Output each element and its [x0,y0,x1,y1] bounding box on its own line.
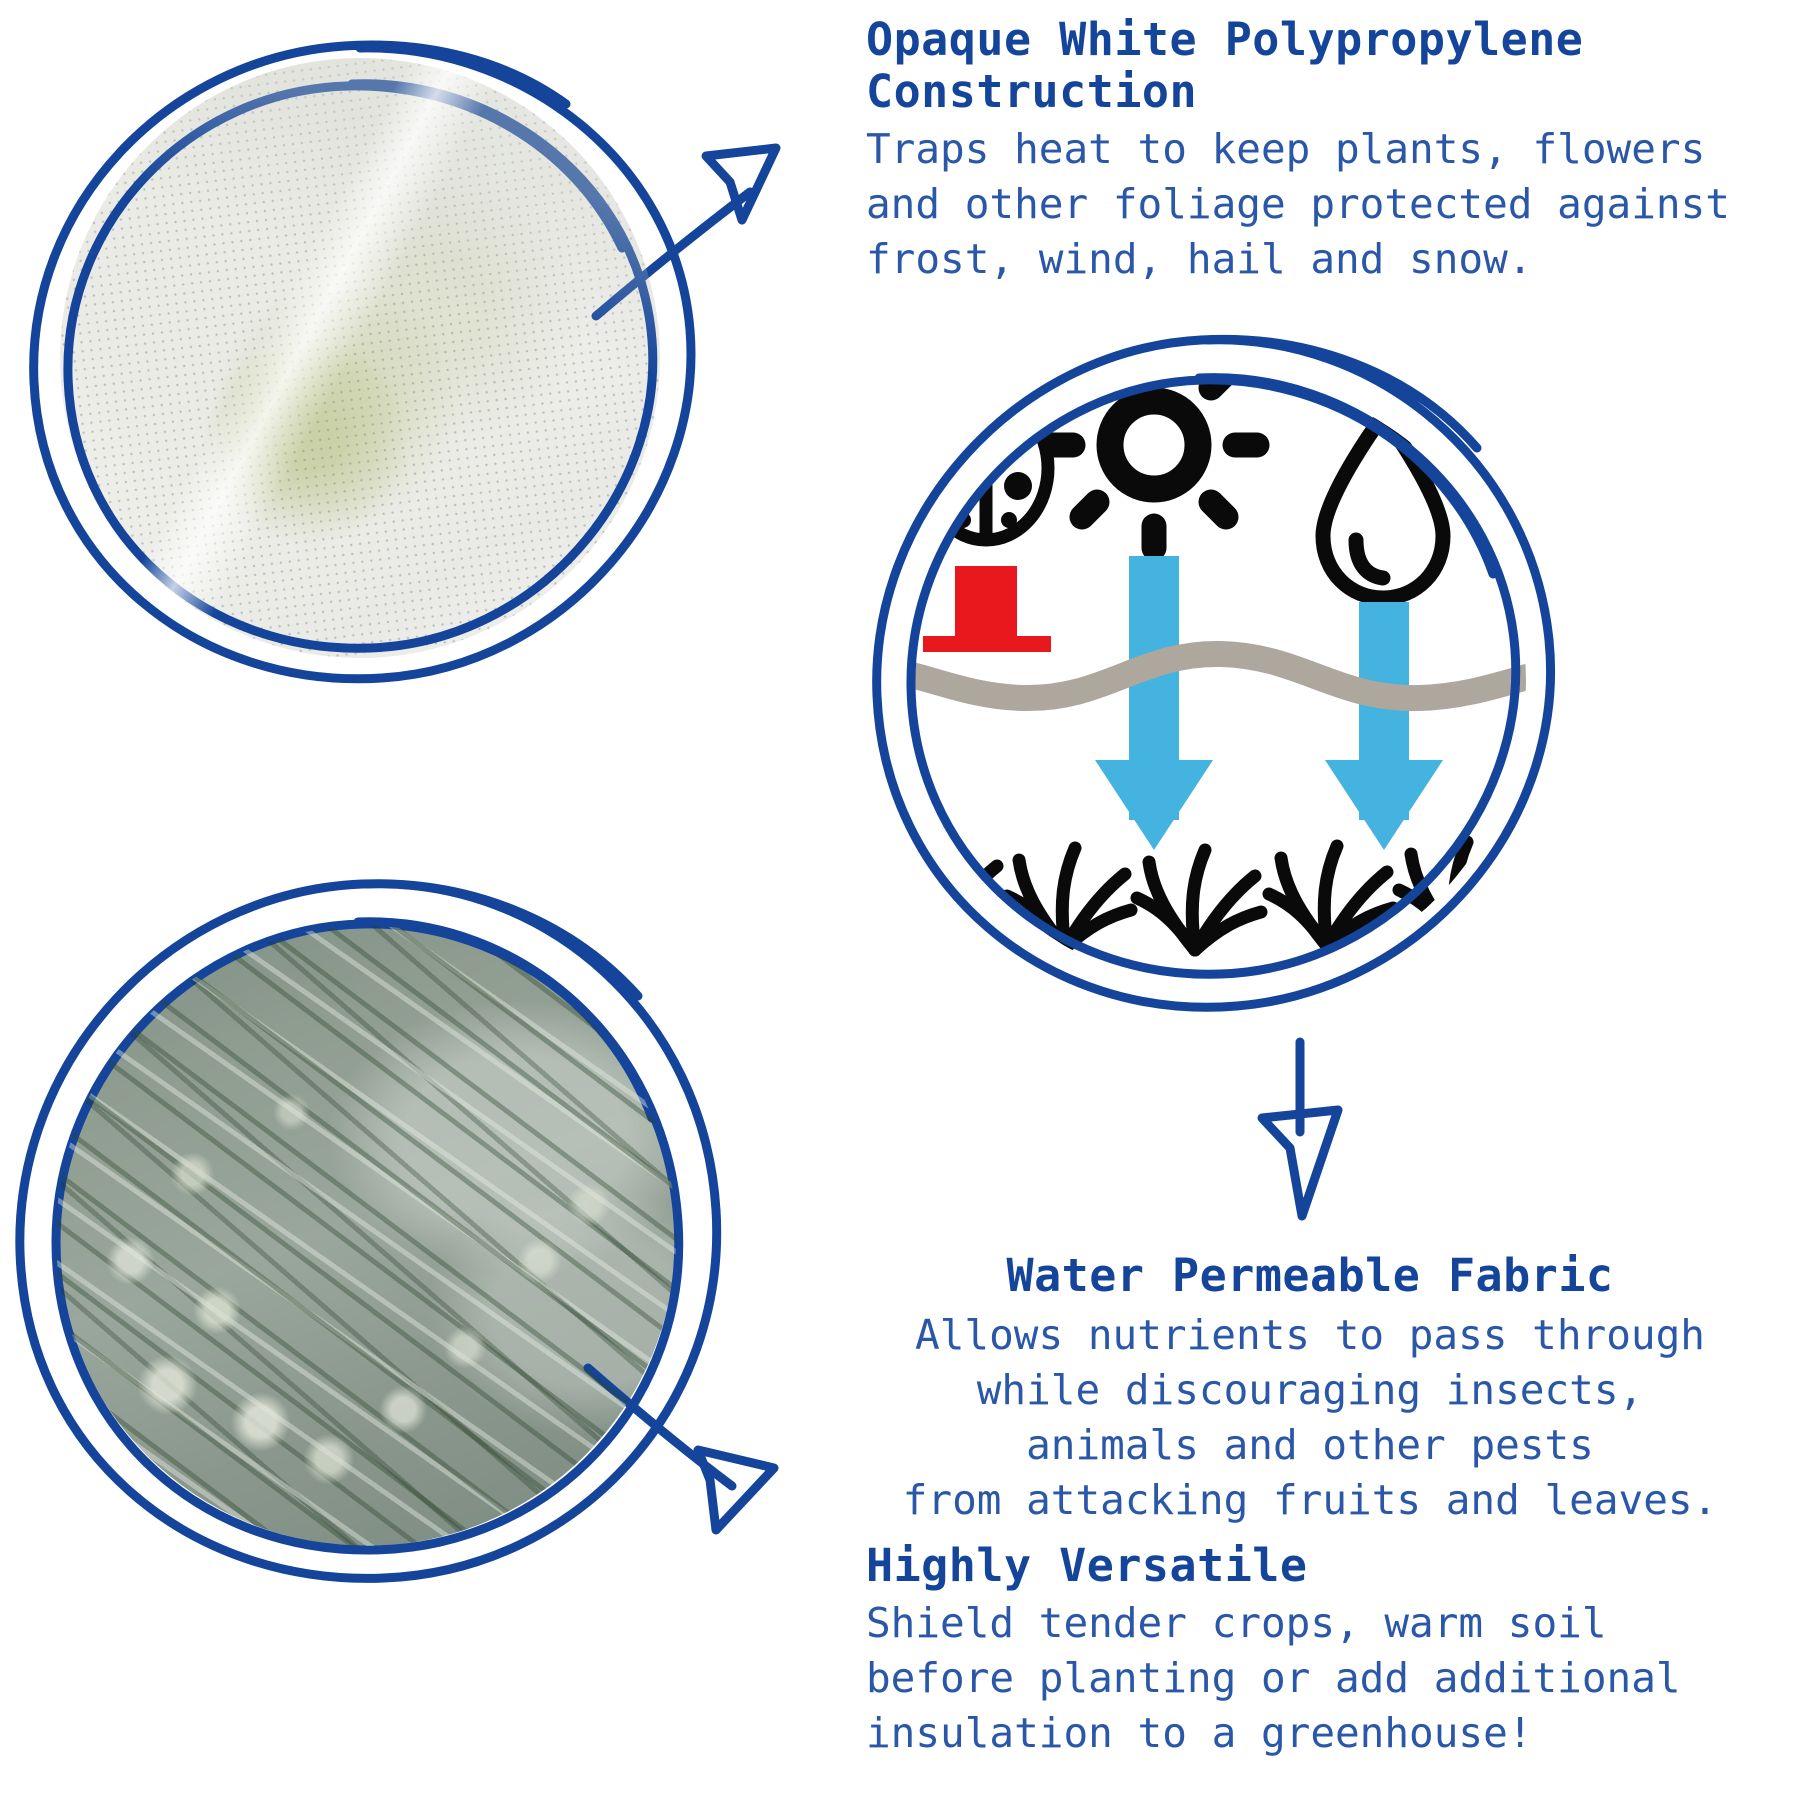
diagram-circle-outer [877,339,1551,1007]
water-body: Allows nutrients to pass through while d… [840,1308,1780,1528]
diagram-circle [855,320,1585,1050]
versatile-body-line-1: Shield tender crops, warm soil [866,1596,1786,1651]
water-body-line-2: while discouraging insects, [840,1363,1780,1418]
arrow-head-icon [706,148,776,220]
opaque-heading-line-2: Construction [866,66,1786,118]
fleece-photo-circle [0,0,760,760]
diagram-sketch-circles [855,320,1585,1050]
water-body-line-4: from attacking fruits and leaves. [840,1473,1780,1528]
water-heading-line-1: Water Permeable Fabric [840,1250,1780,1302]
water-heading: Water Permeable Fabric [840,1250,1780,1302]
opaque-heading: Opaque White Polypropylene Construction [866,14,1786,118]
infographic-stage: Opaque White Polypropylene Construction … [0,0,1800,1800]
opaque-body: Traps heat to keep plants, flowers and o… [866,122,1786,287]
opaque-heading-line-1: Opaque White Polypropylene [866,14,1786,66]
opaque-body-line-3: frost, wind, hail and snow. [866,232,1786,287]
heather-photo [56,926,676,1546]
feature-versatile-text: Highly Versatile Shield tender crops, wa… [866,1540,1786,1761]
heather-photo-circle [0,870,780,1650]
feature-water-text: Water Permeable Fabric Allows nutrients … [840,1250,1780,1528]
versatile-heading: Highly Versatile [866,1540,1786,1592]
versatile-body-line-3: insulation to a greenhouse! [866,1706,1786,1761]
feature-opaque-text: Opaque White Polypropylene Construction … [866,14,1786,287]
arrow-head-icon [698,1450,774,1530]
water-body-line-1: Allows nutrients to pass through [840,1308,1780,1363]
versatile-body-line-2: before planting or add additional [866,1651,1786,1706]
fleece-photo [60,58,660,658]
opaque-body-line-1: Traps heat to keep plants, flowers [866,122,1786,177]
opaque-body-line-2: and other foliage protected against [866,177,1786,232]
versatile-body: Shield tender crops, warm soil before pl… [866,1596,1786,1761]
arrow-to-water-text [1220,1040,1380,1260]
water-body-line-3: animals and other pests [840,1418,1780,1473]
versatile-heading-line-1: Highly Versatile [866,1540,1786,1592]
diagram-circle-inner [911,378,1516,975]
